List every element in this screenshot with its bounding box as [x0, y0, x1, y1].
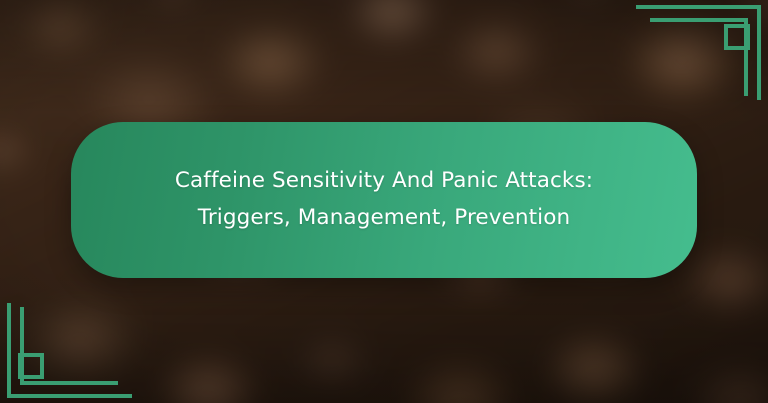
page-title-line-1: Caffeine Sensitivity And Panic Attacks:: [175, 163, 593, 200]
page-title: Caffeine Sensitivity And Panic Attacks: …: [131, 163, 637, 237]
featured-image-canvas: Caffeine Sensitivity And Panic Attacks: …: [0, 0, 768, 403]
article-title-card: Caffeine Sensitivity And Panic Attacks: …: [71, 122, 697, 278]
page-title-line-2: Triggers, Management, Prevention: [175, 200, 593, 237]
